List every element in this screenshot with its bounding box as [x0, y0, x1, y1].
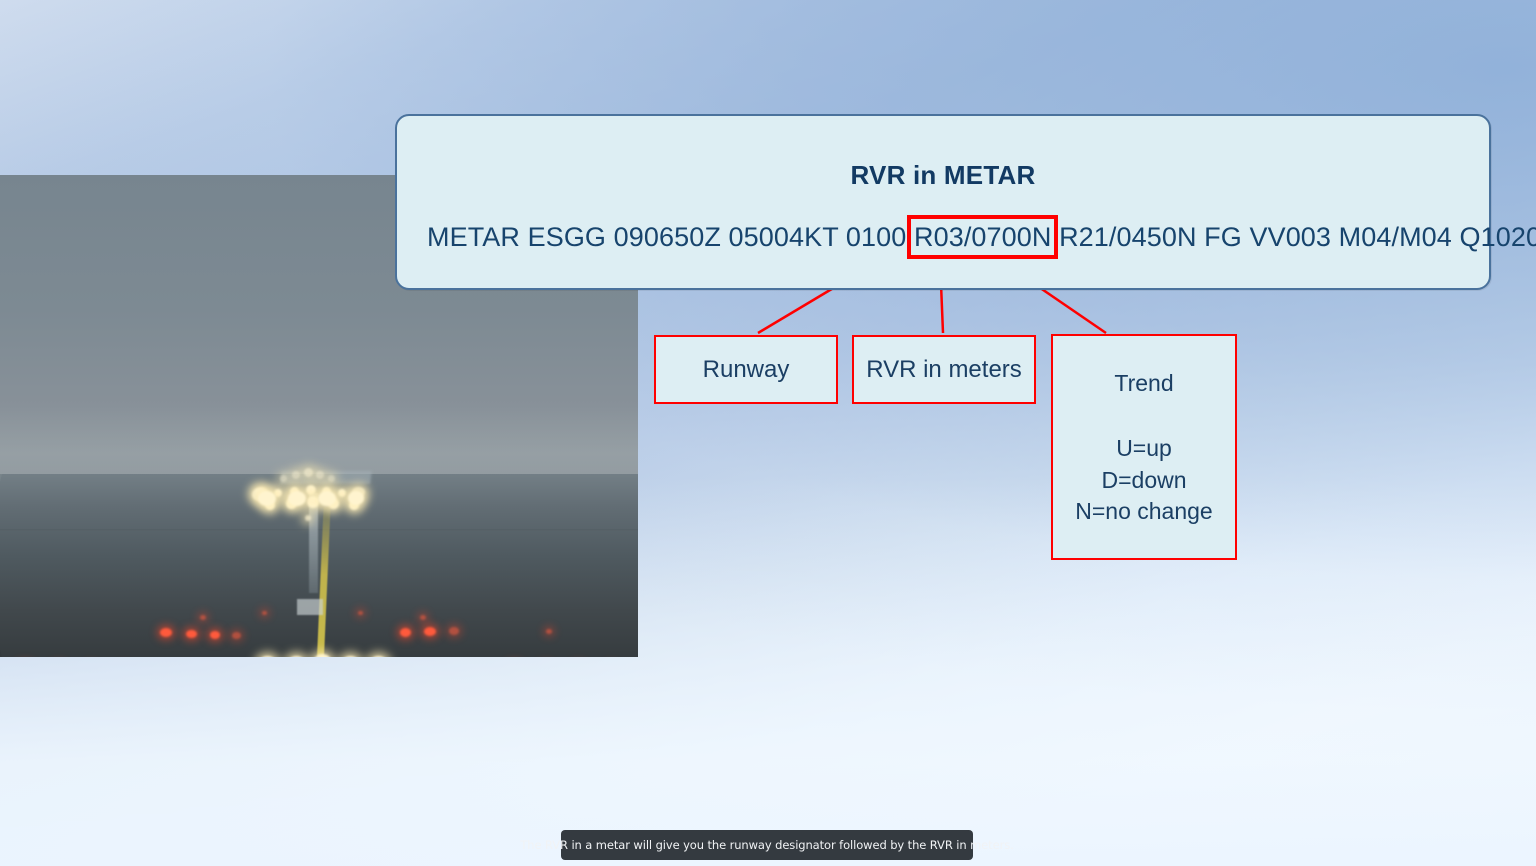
trend-legend-no-change: N=no change	[1053, 496, 1235, 528]
caption-text: The RVR in a metar will give you the run…	[520, 838, 1013, 852]
trend-legend-up: U=up	[1053, 433, 1235, 465]
light-white	[348, 491, 364, 505]
light-red	[420, 615, 426, 620]
trend-legend-down: D=down	[1053, 465, 1235, 497]
light-white	[288, 491, 306, 506]
light-red	[358, 611, 363, 615]
light-white	[305, 515, 311, 521]
light-red	[160, 628, 172, 637]
callout-title: RVR in METAR	[397, 160, 1489, 191]
light-white	[318, 491, 336, 506]
light-white	[304, 468, 313, 477]
annotation-box-runway: Runway	[654, 335, 838, 404]
light-red	[449, 627, 459, 635]
light-red	[200, 615, 206, 620]
photo-ground-marker	[297, 599, 323, 615]
metar-suffix: R21/0450N FG VV003 M04/M04 Q1020	[1051, 222, 1536, 252]
annotation-label-rvr-meters: RVR in meters	[866, 356, 1022, 384]
slide-canvas: RVR in METAR METAR ESGG 090650Z 05004KT …	[0, 0, 1536, 866]
light-red	[186, 630, 197, 638]
callout-box: RVR in METAR METAR ESGG 090650Z 05004KT …	[395, 114, 1491, 290]
light-red	[424, 627, 436, 636]
light-red	[546, 629, 552, 634]
light-red	[400, 628, 411, 637]
metar-string: METAR ESGG 090650Z 05004KT 0100 R03/0700…	[427, 222, 1536, 253]
light-white	[292, 471, 300, 479]
annotation-label-runway: Runway	[703, 356, 790, 384]
photo-centre-mast	[309, 493, 318, 593]
annotation-box-trend: Trend U=up D=down N=no change	[1051, 334, 1237, 560]
light-red	[210, 631, 220, 639]
light-white	[338, 489, 346, 497]
annotation-label-trend: Trend	[1053, 370, 1235, 397]
light-red	[232, 632, 241, 639]
metar-prefix: METAR ESGG 090650Z 05004KT 0100	[427, 222, 914, 252]
light-white	[306, 485, 316, 495]
light-red	[262, 611, 267, 615]
light-white	[316, 471, 324, 479]
light-white	[280, 475, 287, 482]
light-white	[258, 491, 276, 506]
metar-rvr-highlight[interactable]: R03/0700N	[914, 222, 1052, 252]
light-white	[328, 475, 335, 482]
caption-bar: The RVR in a metar will give you the run…	[561, 830, 973, 860]
annotation-box-rvr-meters: RVR in meters	[852, 335, 1036, 404]
